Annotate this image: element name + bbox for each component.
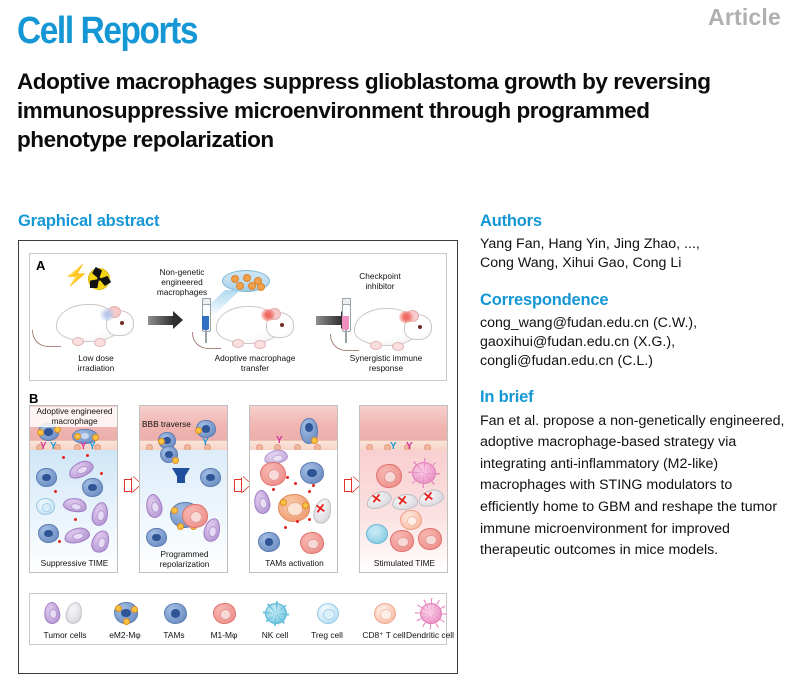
receptor-y-icon: Y	[80, 442, 87, 452]
panel-a-caption-1: Low dose irradiation	[48, 354, 144, 374]
engineered-m2-macrophage-icon	[114, 602, 138, 624]
receptor-y-icon: Y	[50, 442, 57, 452]
m1-macrophage-icon	[300, 532, 324, 554]
mouse-foot	[94, 338, 106, 347]
mouse-eye	[280, 323, 284, 327]
dish-label: Non-genetic engineered macrophages	[148, 268, 216, 298]
m1-macrophage-icon	[418, 528, 442, 550]
panel-b-step-4: Y Y ✕ ✕ ✕ Stimulated TIME	[359, 405, 448, 573]
engineered-m2-macrophage-icon	[300, 418, 318, 444]
syringe-checkpoint	[338, 298, 354, 344]
email-xg[interactable]: gaoxihui@fudan.edu.cn (X.G.),	[480, 334, 675, 350]
m1-macrophage-icon	[390, 530, 414, 552]
treg-cell-icon	[36, 498, 55, 515]
panel-b-step-3: Y ✕ TAMs activation	[249, 405, 338, 573]
legend-item: NK cell	[254, 600, 296, 624]
receptor-y-icon: Y	[406, 442, 413, 452]
panel-a: A ⚡ Low dose irradiation Non-genetic	[29, 253, 447, 381]
legend-item: CD8⁺ T cell	[356, 600, 412, 624]
mouse-eye	[418, 325, 422, 329]
email-cw[interactable]: cong_wang@fudan.edu.cn (C.W.),	[480, 315, 697, 331]
authors-list: Yang Fan, Hang Yin, Jing Zhao, ..., Cong…	[480, 235, 785, 274]
panel-b-step-2: BBB traverse Y Programmed repolarization	[139, 405, 228, 573]
graphical-abstract-figure: A ⚡ Low dose irradiation Non-genetic	[18, 240, 458, 674]
panel-b-letter: B	[29, 391, 38, 406]
mouse-tail	[32, 330, 61, 347]
nk-cell-icon	[366, 524, 388, 544]
cd8-t-cell-icon	[400, 510, 422, 530]
graphical-abstract-heading: Graphical abstract	[18, 212, 159, 231]
checkpoint-label: Checkpoint inhibitor	[334, 272, 426, 292]
in-brief-heading: In brief	[480, 388, 785, 407]
tam-icon	[38, 524, 59, 543]
radiation-icon	[88, 268, 110, 290]
tumor-cell-icon	[42, 601, 62, 625]
tam-icon	[258, 532, 280, 552]
m1-macrophage-icon	[376, 464, 402, 488]
receptor-y-icon: Y	[202, 438, 209, 448]
dying-tumor-cell-icon	[65, 601, 84, 625]
panel-a-caption-3: Synergistic immune response	[330, 354, 442, 374]
panel-b-caption-3: TAMs activation	[250, 559, 338, 569]
treg-cell-icon	[317, 603, 339, 624]
activated-macrophage-icon	[278, 494, 310, 522]
cell-death-x-icon: ✕	[370, 491, 383, 505]
dendritic-cell-icon	[412, 462, 436, 484]
tam-icon	[300, 462, 324, 484]
tumor-spot-red	[261, 309, 275, 321]
legend-item: Treg cell	[304, 600, 350, 624]
tam-icon	[200, 468, 221, 487]
legend-item: M1-Mφ	[202, 600, 246, 624]
receptor-y-icon: Y	[40, 442, 47, 452]
tam-icon	[36, 468, 57, 487]
journal-masthead: Cell Reports	[17, 12, 197, 50]
correspondence-heading: Correspondence	[480, 291, 785, 310]
m1-macrophage-icon	[260, 462, 286, 486]
correspondence-emails: cong_wang@fudan.edu.cn (C.W.), gaoxihui@…	[480, 314, 785, 371]
tumor-spot-red	[399, 311, 413, 323]
tam-icon	[146, 528, 167, 547]
dendritic-cell-icon	[420, 603, 442, 624]
mouse-irradiated	[48, 290, 144, 350]
mouse-foot	[72, 337, 84, 346]
bbb-traverse-label: BBB traverse	[142, 420, 198, 430]
panel-b-caption-4: Stimulated TIME	[360, 559, 448, 569]
nk-cell-icon	[265, 603, 287, 624]
receptor-y-icon: Y	[276, 436, 283, 446]
legend-item: TAMs	[154, 600, 194, 624]
panel-b: B Adoptive engineered macrophage Y Y Y Y	[29, 391, 447, 586]
legend-item: Dendritic cell	[416, 600, 444, 624]
tam-icon	[164, 603, 187, 624]
tam-icon	[82, 478, 103, 497]
petri-dish-icon	[222, 270, 270, 292]
tumor-spot-blue	[100, 308, 115, 321]
mouse-synergistic	[346, 294, 442, 354]
panel-a-letter: A	[36, 258, 45, 273]
panel-b-callout-1: Adoptive engineered macrophage	[30, 407, 118, 427]
mouse-foot	[254, 340, 266, 349]
syringe-macrophage	[198, 298, 214, 342]
cell-death-x-icon: ✕	[314, 501, 327, 515]
receptor-y-icon: Y	[390, 442, 397, 452]
mouse-foot	[370, 341, 382, 350]
email-cl[interactable]: congli@fudan.edu.cn (C.L.)	[480, 353, 653, 369]
engineered-m2-macrophage-icon	[160, 446, 178, 463]
mouse-foot	[232, 339, 244, 348]
panel-b-caption-2: Programmed repolarization	[140, 550, 228, 570]
panel-a-caption-2: Adoptive macrophage transfer	[196, 354, 314, 374]
page-title: Adoptive macrophages suppress glioblasto…	[17, 68, 762, 154]
traverse-arrow	[172, 468, 190, 483]
cd8-t-cell-icon	[374, 603, 396, 624]
m1-macrophage-icon	[213, 603, 236, 624]
legend-item: Tumor cells	[36, 600, 94, 624]
receptor-y-icon: Y	[89, 442, 96, 452]
figure-legend: Tumor cells eM2-Mφ TAMs M1-Mφ NK cell	[29, 593, 447, 645]
mouse-foot	[392, 342, 404, 351]
panel-b-caption-1: Suppressive TIME	[30, 559, 118, 569]
m1-macrophage-icon	[182, 504, 208, 528]
mouse-adoptive-transfer	[208, 292, 304, 352]
panel-b-step-1: Adoptive engineered macrophage Y Y Y Y	[29, 405, 118, 573]
engineered-m2-macrophage-icon	[196, 420, 216, 438]
authors-heading: Authors	[480, 212, 785, 231]
cell-death-x-icon: ✕	[422, 489, 435, 503]
legend-item: eM2-Mφ	[104, 600, 146, 624]
article-type-label: Article	[708, 4, 781, 31]
mouse-eye	[120, 321, 124, 325]
in-brief-text: Fan et al. propose a non-genetically eng…	[480, 411, 785, 562]
cell-death-x-icon: ✕	[396, 493, 409, 507]
process-arrow-1	[148, 316, 174, 325]
metadata-column: Authors Yang Fan, Hang Yin, Jing Zhao, .…	[480, 212, 785, 562]
